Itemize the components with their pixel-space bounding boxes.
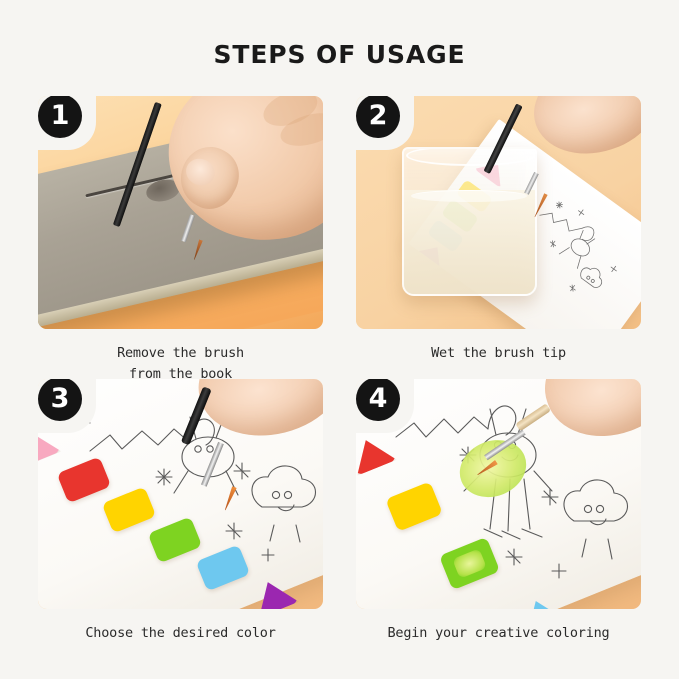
step-number-badge: 3 bbox=[38, 379, 82, 421]
swatch-blue bbox=[518, 593, 565, 609]
steps-grid: 1 Remove the brush from the book bbox=[38, 96, 641, 656]
step-2-caption: Wet the brush tip bbox=[356, 343, 641, 364]
water-glass bbox=[402, 147, 537, 295]
step-2-badge-group: 2 bbox=[356, 96, 422, 158]
swatch-green bbox=[148, 517, 202, 564]
swatch-green bbox=[439, 536, 500, 589]
product-instruction-graphic: STEPS OF USAGE bbox=[0, 0, 679, 679]
step-3-caption: Choose the desired color bbox=[38, 623, 323, 644]
paintbrush-handle bbox=[181, 387, 212, 446]
step-2-photo: 2 bbox=[356, 96, 641, 329]
step-1-badge-group: 1 bbox=[38, 96, 104, 158]
water bbox=[404, 190, 535, 294]
step-card-4: 4 Begin your creative coloring bbox=[356, 379, 641, 644]
step-number-badge: 4 bbox=[356, 379, 400, 421]
paintbrush-handle bbox=[516, 403, 552, 431]
painted-area bbox=[451, 430, 535, 507]
step-1-photo: 1 bbox=[38, 96, 323, 329]
paintbrush-ferrule bbox=[201, 442, 224, 487]
swatch-blue bbox=[196, 544, 250, 591]
hand bbox=[530, 379, 641, 454]
step-4-badge-group: 4 bbox=[356, 379, 422, 441]
swatch-yellow bbox=[102, 487, 156, 534]
page-title: STEPS OF USAGE bbox=[0, 40, 679, 69]
step-number-badge: 1 bbox=[38, 96, 82, 138]
step-card-2: 2 Wet the brush tip bbox=[356, 96, 641, 364]
water-surface bbox=[411, 190, 526, 203]
swatch-yellow bbox=[385, 482, 443, 532]
glass-rim bbox=[406, 147, 536, 166]
swatch-purple bbox=[248, 574, 299, 609]
step-card-3: 3 Choose the desired color bbox=[38, 379, 323, 644]
paintbrush-tip bbox=[223, 486, 237, 511]
step-3-badge-group: 3 bbox=[38, 379, 104, 441]
step-number-badge: 2 bbox=[356, 96, 400, 138]
wet-paint-spot bbox=[453, 548, 487, 578]
step-4-caption: Begin your creative coloring bbox=[356, 623, 641, 644]
step-card-1: 1 Remove the brush from the book bbox=[38, 96, 323, 385]
swatch-red bbox=[56, 457, 110, 504]
step-3-photo: 3 bbox=[38, 379, 323, 609]
step-4-photo: 4 bbox=[356, 379, 641, 609]
